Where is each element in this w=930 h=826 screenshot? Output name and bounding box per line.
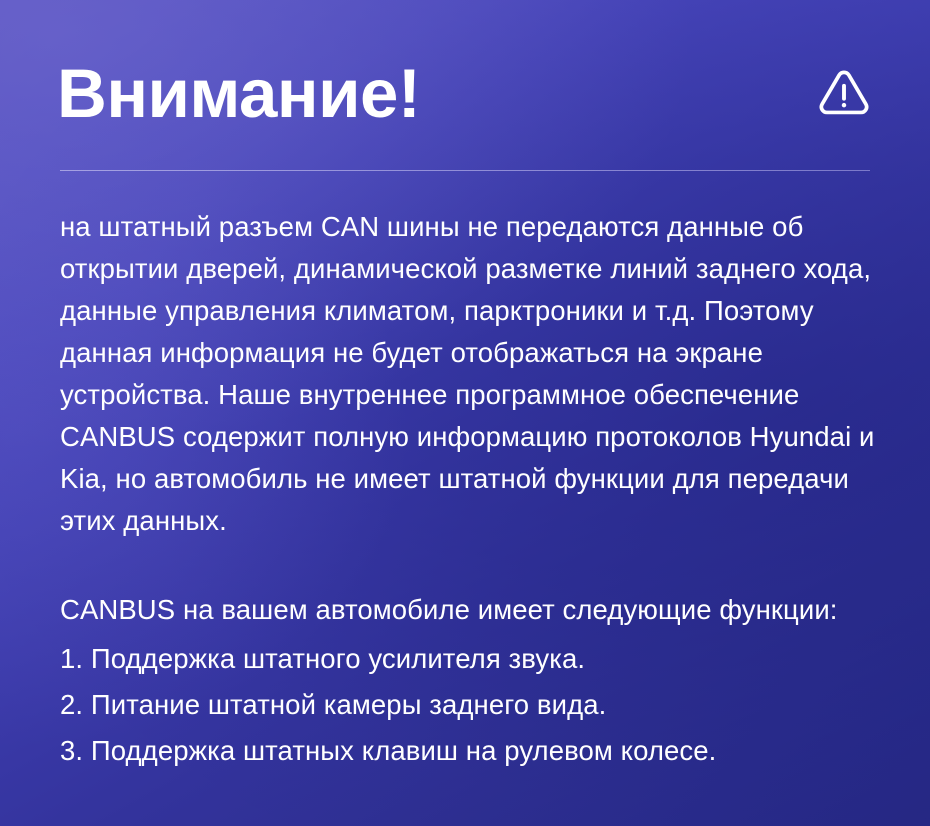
warning-poster: Внимание! на штатный разъем CAN шины не … — [0, 0, 930, 826]
paragraph-can-limitations: на штатный разъем CAN шины не передаются… — [60, 206, 880, 542]
poster-header: Внимание! — [57, 52, 875, 134]
list-item: 2. Питание штатной камеры заднего вида. — [60, 682, 890, 728]
poster-content: Внимание! на штатный разъем CAN шины не … — [0, 0, 930, 826]
functions-list: 1. Поддержка штатного усилителя звука. 2… — [60, 636, 890, 774]
list-item: 1. Поддержка штатного усилителя звука. — [60, 636, 890, 682]
body-copy: на штатный разъем CAN шины не передаются… — [60, 206, 880, 542]
functions-lead-text: CANBUS на вашем автомобиле имеет следующ… — [60, 589, 890, 631]
functions-block: CANBUS на вашем автомобиле имеет следующ… — [60, 589, 890, 774]
warning-triangle-icon — [815, 64, 873, 122]
header-divider — [60, 170, 870, 171]
page-title: Внимание! — [57, 59, 420, 128]
list-item: 3. Поддержка штатных клавиш на рулевом к… — [60, 728, 890, 774]
